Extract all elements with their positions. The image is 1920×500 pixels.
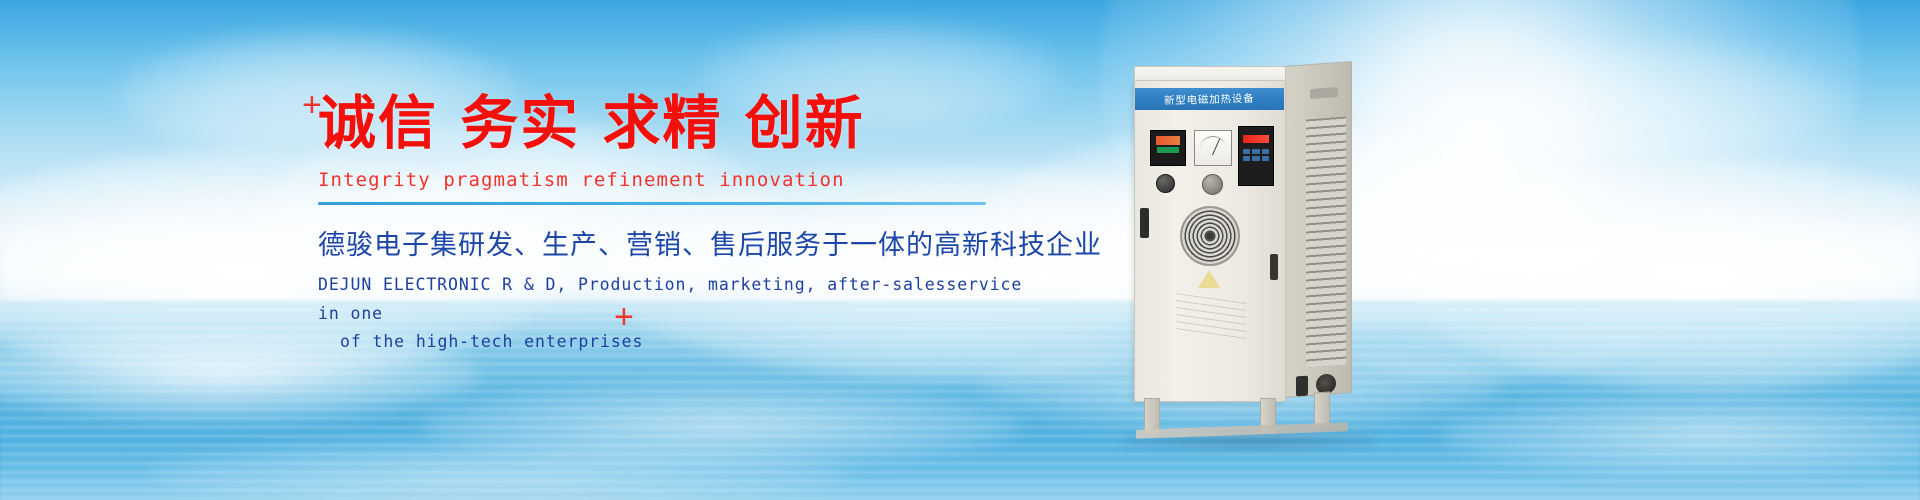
inverter-key: [1252, 149, 1259, 154]
inverter-key: [1262, 156, 1269, 161]
machine-label-banner: 新型电磁加热设备: [1135, 88, 1284, 110]
machine-side-port: [1296, 376, 1308, 397]
machine-vent-grille: [1306, 117, 1346, 368]
machine-indicator-strip: [1140, 208, 1149, 238]
machine-label-text: 新型电磁加热设备: [1164, 90, 1254, 107]
machine-door-handle: [1270, 254, 1278, 280]
banner-subtitle-english-line1: DEJUN ELECTRONIC R & D, Production, mark…: [318, 275, 1022, 323]
machine-fan-grille: [1180, 206, 1240, 266]
promo-banner: + + 诚信 务实 求精 创新 Integrity pragmatism ref…: [0, 0, 1920, 500]
banner-text-block: 诚信 务实 求精 创新 Integrity pragmatism refinem…: [318, 92, 1038, 357]
machine-inverter-keypad: [1238, 126, 1274, 186]
cloud: [1500, 40, 1840, 160]
machine-selector-knob: [1156, 174, 1175, 193]
banner-subtitle-english-line2: of the high-tech enterprises: [318, 328, 1038, 357]
inverter-keys: [1243, 149, 1269, 161]
display-segment-green: [1157, 147, 1179, 153]
banner-subtitle-chinese: 德骏电子集研发、生产、营销、售后服务于一体的高新科技企业: [318, 223, 1038, 262]
meter-scale-arc: [1200, 136, 1226, 149]
warning-triangle-icon: [1198, 270, 1220, 288]
product-machine-image: 新型电磁加热设备: [1118, 58, 1438, 458]
banner-headline-english: Integrity pragmatism refinement innovati…: [318, 169, 1038, 191]
inverter-key: [1243, 149, 1250, 154]
inverter-display: [1243, 135, 1269, 143]
banner-headline: 诚信 务实 求精 创新: [318, 92, 1038, 155]
machine-top-vent: [1310, 87, 1338, 99]
display-segment-red: [1156, 136, 1180, 145]
inverter-key: [1252, 156, 1259, 161]
inverter-key: [1243, 156, 1250, 161]
banner-subtitle-english: DEJUN ELECTRONIC R & D, Production, mark…: [318, 271, 1038, 358]
machine-temperature-display: [1150, 130, 1186, 166]
machine-analog-meter: [1194, 130, 1232, 166]
machine-control-knob: [1202, 174, 1223, 195]
inverter-key: [1262, 149, 1269, 154]
divider: [318, 202, 986, 205]
